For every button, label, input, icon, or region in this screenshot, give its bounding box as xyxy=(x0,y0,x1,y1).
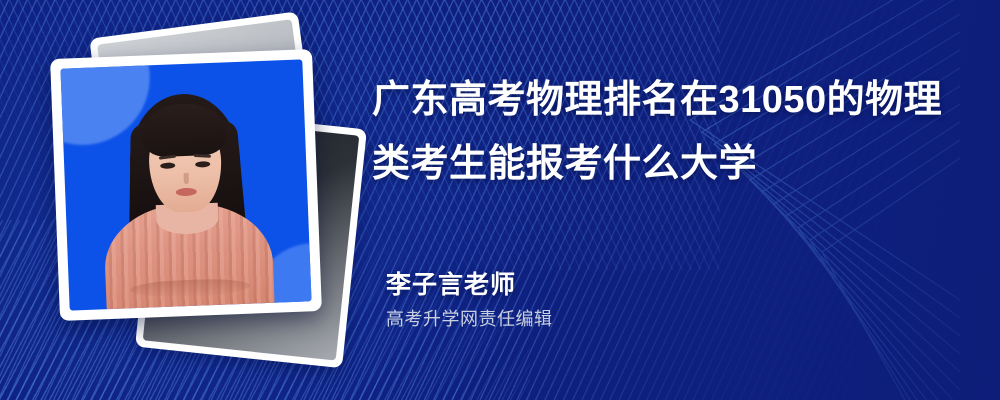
author-photo-card xyxy=(50,49,322,321)
author-name: 李子言老师 xyxy=(386,268,553,302)
author-photo-stack xyxy=(55,22,355,382)
portrait-nose xyxy=(184,173,189,184)
page-title-line-1: 广东高考物理排名在31050的物理 xyxy=(372,68,974,132)
page-title-line-2: 类考生能报考什么大学 xyxy=(372,132,974,196)
author-role: 高考升学网责任编辑 xyxy=(386,304,553,334)
article-header-banner: 广东高考物理排名在31050的物理 类考生能报考什么大学 李子言老师 高考升学网… xyxy=(0,0,1000,400)
portrait-figure xyxy=(87,87,285,309)
author-byline: 李子言老师 高考升学网责任编辑 xyxy=(386,268,553,334)
author-portrait-photo xyxy=(60,59,311,310)
page-title: 广东高考物理排名在31050的物理 类考生能报考什么大学 xyxy=(372,68,974,196)
banner-content: 广东高考物理排名在31050的物理 类考生能报考什么大学 李子言老师 高考升学网… xyxy=(372,0,974,400)
